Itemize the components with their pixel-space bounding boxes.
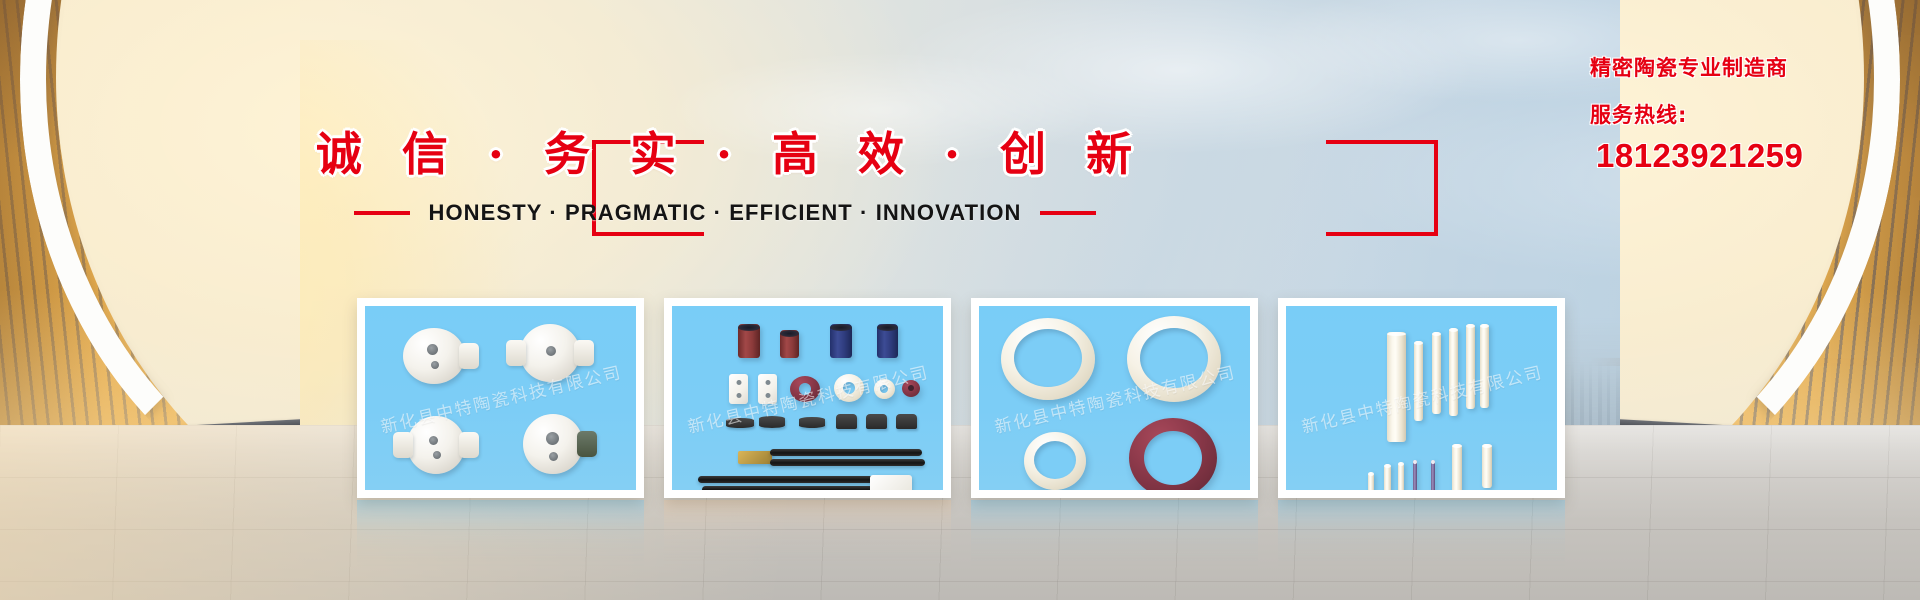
ceramic-rod-violet-2	[1431, 460, 1435, 490]
ceramic-bead-white	[874, 379, 895, 399]
ceramic-ring-small	[1024, 432, 1086, 490]
product-panel-3[interactable]: 新化县中特陶瓷科技有限公司	[971, 298, 1258, 498]
product-panel-1[interactable]: 新化县中特陶瓷科技有限公司	[357, 298, 644, 498]
metal-cap-1	[836, 414, 857, 429]
hotline-number[interactable]: 18123921259	[1596, 137, 1860, 175]
ceramic-rod-violet-1	[1413, 460, 1417, 490]
product-image-lamp-holders: 新化县中特陶瓷科技有限公司	[365, 306, 636, 490]
ceramic-rod-thick	[1387, 332, 1406, 442]
company-tagline: 精密陶瓷专业制造商	[1590, 52, 1860, 82]
ceramic-plate-1	[729, 374, 748, 404]
headline-english: HONESTY · PRAGMATIC · EFFICIENT · INNOVA…	[428, 200, 1021, 226]
product-panel-2[interactable]: 新化县中特陶瓷科技有限公司	[664, 298, 951, 498]
lamp-holder-3	[407, 416, 465, 474]
lamp-holder-1	[403, 328, 465, 384]
promotional-banner: 诚 信 · 务 实 · 高 效 · 创 新 HONESTY · PRAGMATI…	[0, 0, 1920, 600]
ceramic-rod-mini-2	[1384, 464, 1391, 490]
ceramic-tube-navy-2	[877, 324, 898, 358]
product-image-rings: 新化县中特陶瓷科技有限公司	[979, 306, 1250, 490]
rule-left	[354, 211, 410, 215]
ceramic-tube-red-2	[780, 330, 799, 358]
wired-assembly-2	[698, 474, 918, 490]
ceramic-rod-mini-5	[1482, 444, 1492, 488]
ceramic-ring-large-2	[1127, 316, 1221, 402]
lamp-holder-2	[520, 324, 580, 382]
ceramic-rod-mini-3	[1398, 462, 1404, 490]
metal-clip-1	[726, 418, 754, 428]
ceramic-rod-6	[1480, 324, 1489, 408]
ceramic-ring-maroon-small	[790, 376, 820, 402]
product-panel-4[interactable]: 新化县中特陶瓷科技有限公司	[1278, 298, 1565, 498]
headline-chinese-row: 诚 信 · 务 实 · 高 效 · 创 新	[306, 118, 1144, 184]
ceramic-rod-2	[1414, 341, 1423, 421]
ceramic-rod-4	[1449, 328, 1458, 416]
lamp-holder-4	[523, 414, 583, 474]
product-image-rods: 新化县中特陶瓷科技有限公司	[1286, 306, 1557, 490]
metal-clip-3	[799, 417, 825, 428]
product-panels: 新化县中特陶瓷科技有限公司	[357, 298, 1565, 498]
ceramic-rod-mini-1	[1368, 472, 1374, 490]
ceramic-rod-mini-4	[1452, 444, 1462, 490]
ceramic-rod-5	[1466, 324, 1475, 409]
ceramic-ring-maroon-large	[1129, 418, 1217, 490]
headline-chinese: 诚 信 · 务 实 · 高 效 · 创 新	[306, 118, 1144, 184]
ceramic-bead-maroon	[902, 380, 920, 397]
ceramic-plate-2	[758, 374, 777, 404]
headline-english-row: HONESTY · PRAGMATIC · EFFICIENT · INNOVA…	[354, 200, 1095, 226]
headline-block: 诚 信 · 务 实 · 高 效 · 创 新 HONESTY · PRAGMATI…	[0, 118, 1450, 226]
hotline-label: 服务热线:	[1590, 99, 1860, 129]
ceramic-tube-red-1	[738, 324, 760, 358]
metal-cap-3	[896, 414, 917, 429]
contact-block: 精密陶瓷专业制造商 服务热线: 18123921259	[1590, 52, 1860, 175]
ceramic-tube-navy-1	[830, 324, 852, 358]
wired-assembly-1	[732, 446, 932, 470]
metal-cap-2	[866, 414, 887, 429]
ceramic-ring-large-1	[1001, 318, 1095, 400]
ceramic-ring-white-small	[834, 374, 864, 402]
ceramic-rod-3	[1432, 332, 1441, 414]
metal-clip-2	[759, 416, 785, 428]
product-image-tubes-connectors: 新化县中特陶瓷科技有限公司	[672, 306, 943, 490]
rule-right	[1040, 211, 1096, 215]
